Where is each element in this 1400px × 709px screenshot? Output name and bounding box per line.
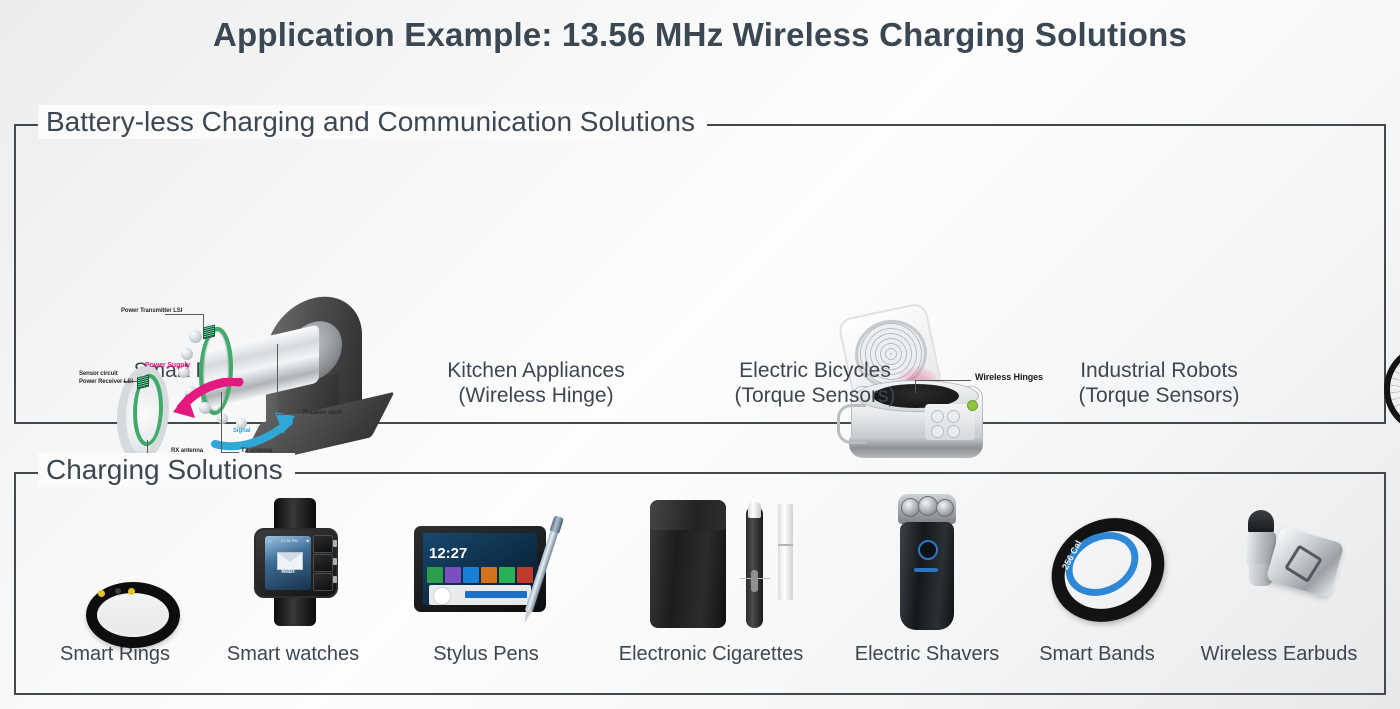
cooker-handle bbox=[837, 404, 866, 444]
item-label-stylus-pens: Stylus Pens bbox=[386, 642, 586, 667]
ecig-stick-refill bbox=[778, 504, 793, 600]
item-wireless-earbuds[interactable]: Wireless Earbuds bbox=[1176, 480, 1382, 667]
item-label-industrial-robots: Industrial Robots (Torque Sensors) bbox=[944, 358, 1374, 408]
cooker-button bbox=[931, 410, 944, 423]
item-label-smart-watches: Smart watches bbox=[200, 642, 386, 667]
item-electric-bicycles[interactable]: Torque Sensor Electric Bicycles (Torque … bbox=[684, 130, 946, 408]
smart-ring-sensor bbox=[128, 588, 135, 595]
tablet-stylus-icon bbox=[433, 587, 451, 605]
ecig-device-slot bbox=[751, 570, 758, 592]
item-label-wireless-earbuds: Wireless Earbuds bbox=[1176, 642, 1382, 667]
wireless-earbuds-illustration bbox=[1176, 480, 1382, 642]
item-industrial-robots[interactable]: Industrial Robots (Torque Sensors) bbox=[944, 130, 1374, 408]
anno-signal: Signal bbox=[233, 428, 250, 435]
electric-shaver bbox=[896, 494, 958, 630]
lead-line bbox=[277, 414, 301, 415]
item-smart-rings[interactable]: Smart Rings bbox=[30, 480, 200, 667]
pen-tip bbox=[522, 609, 532, 624]
bicycle-illustration: Torque Sensor bbox=[684, 130, 946, 358]
anno-power-supply: Power Supply bbox=[145, 362, 190, 369]
watch-crown[interactable] bbox=[333, 576, 337, 583]
watch-crown[interactable] bbox=[333, 540, 337, 547]
anno-power-receiver-lsi: Power Receiver LSI bbox=[79, 379, 133, 386]
ecig-refill-band bbox=[778, 544, 793, 546]
item-label-smart-bands: Smart Bands bbox=[1018, 642, 1176, 667]
tile[interactable] bbox=[445, 567, 461, 583]
signal-icon: ╭╭ bbox=[267, 538, 272, 543]
watch-status-bar: ╭╭ 12:34 PM ■ bbox=[266, 536, 310, 544]
smart-watch: ╭╭ 12:34 PM ■ Mail bbox=[250, 498, 338, 624]
shaver-foil bbox=[918, 496, 938, 516]
tile[interactable] bbox=[427, 567, 443, 583]
shaver-power-button[interactable] bbox=[918, 540, 938, 560]
item-label-electronic-cigarettes: Electronic Cigarettes bbox=[586, 642, 836, 667]
bicycle-rear-wheel bbox=[1384, 344, 1400, 434]
anno-power-transmitter-lsi: Power Transmitter LSI bbox=[121, 308, 182, 315]
item-label-electric-shavers: Electric Shavers bbox=[836, 642, 1018, 667]
smart-ring-illustration bbox=[30, 480, 200, 642]
earbud-case-logo-icon bbox=[1284, 544, 1323, 583]
smart-bearing-illustration: Power Transmitter LSI Sensor circuit Pow… bbox=[26, 130, 386, 358]
tablet-tile-row bbox=[427, 567, 533, 583]
shaver-body bbox=[900, 522, 954, 630]
slide-root: Application Example: 13.56 MHz Wireless … bbox=[0, 0, 1400, 709]
cooker-button bbox=[947, 425, 960, 438]
watch-time: 12:34 PM bbox=[281, 538, 298, 543]
tablet-progress-bar bbox=[465, 591, 527, 598]
cooker-button bbox=[931, 425, 944, 438]
ecig-device bbox=[746, 506, 763, 628]
item-smart-bands[interactable]: 256 Cal Smart Bands bbox=[1018, 480, 1176, 667]
watch-call-button[interactable] bbox=[313, 573, 333, 591]
ecig-device-mouthpiece bbox=[748, 502, 761, 518]
bearing-ball bbox=[189, 330, 202, 343]
anno-rotation-shaft: Rotation shaft bbox=[303, 410, 342, 417]
item-stylus-pens[interactable]: 12:27 bbox=[386, 480, 586, 667]
earbud-cap bbox=[1248, 510, 1274, 534]
watch-crown[interactable] bbox=[333, 558, 337, 565]
watch-apps-button[interactable] bbox=[313, 554, 333, 572]
bicycle: Torque Sensor bbox=[1384, 302, 1400, 482]
item-smart-bearings[interactable]: Power Transmitter LSI Sensor circuit Pow… bbox=[26, 130, 386, 383]
smart-ring-sensor-dark bbox=[115, 588, 121, 594]
bearing-ball bbox=[181, 348, 193, 360]
watch-screen: ╭╭ 12:34 PM ■ Mail bbox=[265, 536, 311, 590]
pen-cap bbox=[550, 515, 564, 533]
shaver-foil bbox=[936, 499, 954, 517]
item-electronic-cigarettes[interactable]: Electronic Cigarettes bbox=[586, 480, 836, 667]
rice-cooker-illustration: Wireless Hinges bbox=[386, 130, 686, 358]
tile[interactable] bbox=[499, 567, 515, 583]
tile[interactable] bbox=[463, 567, 479, 583]
item-label-electric-bicycles: Electric Bicycles (Torque Sensors) bbox=[684, 358, 946, 408]
lead-line bbox=[147, 440, 148, 454]
section-charging-solutions: Charging Solutions Smart Rings bbox=[14, 472, 1386, 695]
item-label-kitchen-appliances: Kitchen Appliances (Wireless Hinge) bbox=[386, 358, 686, 408]
item-kitchen-appliances[interactable]: Wireless Hinges Kitchen Appliances (Wire… bbox=[386, 130, 686, 408]
tablet-time: 12:27 bbox=[429, 545, 467, 562]
ecig-case-lid bbox=[650, 500, 726, 530]
smart-watch-illustration: ╭╭ 12:34 PM ■ Mail bbox=[200, 480, 386, 642]
lead-line bbox=[221, 392, 222, 452]
watch-app-label: Mail bbox=[265, 568, 311, 575]
watch-volume-button[interactable] bbox=[313, 535, 333, 553]
lead-line bbox=[277, 344, 278, 414]
section-items-charging-solutions: Smart Rings ╭╭ 12:34 PM ■ bbox=[16, 474, 1384, 693]
item-electric-shavers[interactable]: Electric Shavers bbox=[836, 480, 1018, 667]
section-items-battery-less: Power Transmitter LSI Sensor circuit Pow… bbox=[16, 126, 1384, 422]
electronic-cigarette-illustration bbox=[586, 480, 836, 642]
smart-band-illustration: 256 Cal bbox=[1018, 480, 1176, 642]
lead-line bbox=[203, 314, 204, 328]
smart-band: 256 Cal bbox=[1050, 510, 1142, 602]
section-battery-less: Battery-less Charging and Communication … bbox=[14, 124, 1386, 424]
battery-icon: ■ bbox=[307, 538, 309, 543]
watch-case: ╭╭ 12:34 PM ■ Mail bbox=[254, 528, 338, 598]
item-smart-watches[interactable]: ╭╭ 12:34 PM ■ Mail bbox=[200, 480, 386, 667]
page-title: Application Example: 13.56 MHz Wireless … bbox=[0, 16, 1400, 54]
electric-shaver-illustration bbox=[836, 480, 1018, 642]
stylus-pen-tablet-illustration: 12:27 bbox=[386, 480, 586, 642]
smart-ring-sensor bbox=[98, 590, 105, 597]
cooker-button bbox=[947, 410, 960, 423]
anno-sensor-circuit: Sensor circuit bbox=[79, 371, 118, 378]
shaver-charge-indicator bbox=[914, 568, 938, 572]
tile[interactable] bbox=[481, 567, 497, 583]
tablet-screen: 12:27 bbox=[423, 533, 537, 605]
robot-arm-illustration bbox=[944, 130, 1374, 358]
